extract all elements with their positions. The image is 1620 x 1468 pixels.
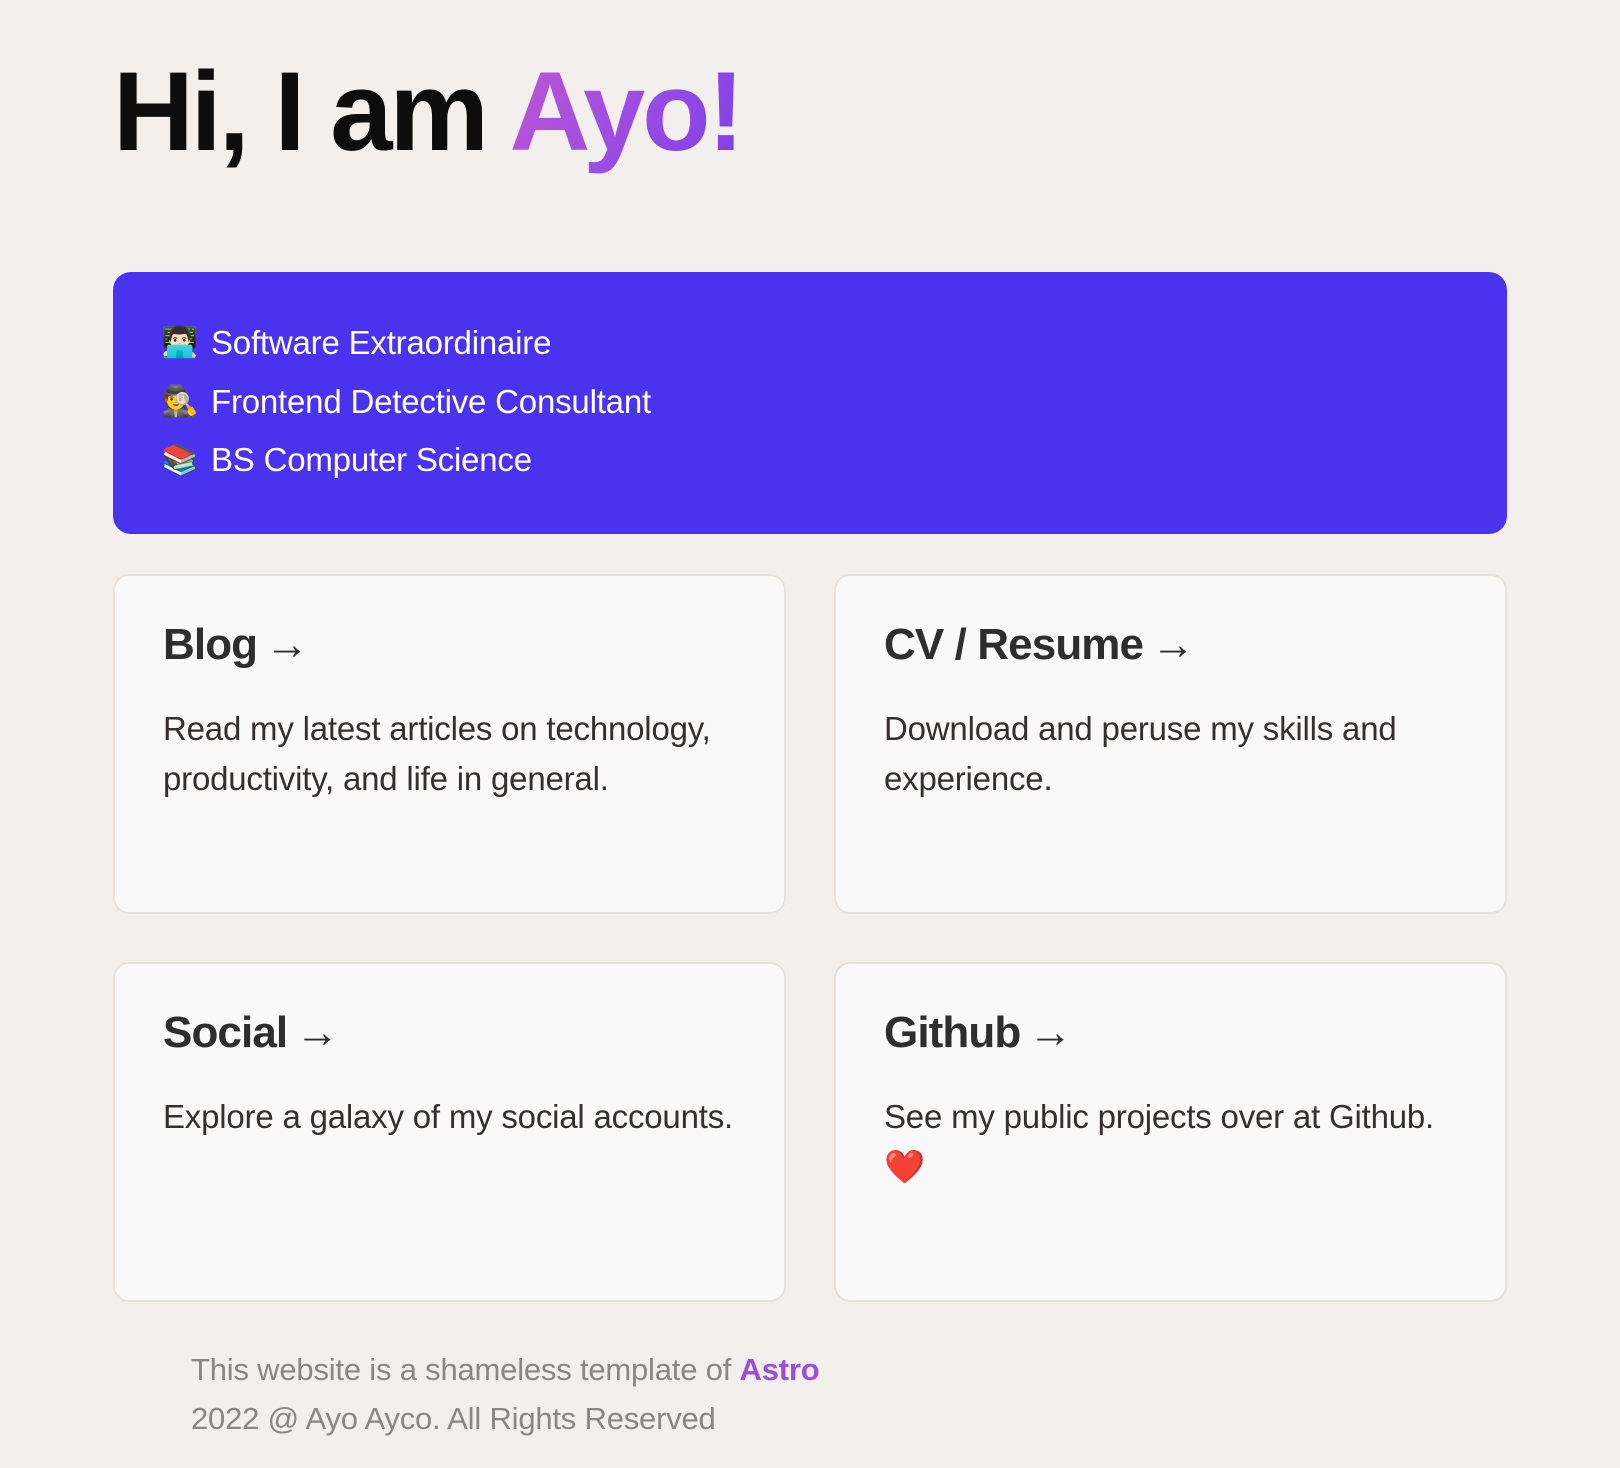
footer-copyright: 2022 @ Ayo Ayco. All Rights Reserved [191,1395,1507,1444]
hero-name-text: Ayo! [510,49,742,174]
card-title: Social→ [163,1008,736,1058]
footer-credit-text: This website is a shameless template of [191,1352,740,1387]
info-item-label: BS Computer Science [211,431,532,490]
hero-section: Hi, I am Ayo! [113,0,1507,272]
card-title: Github→ [884,1008,1457,1058]
card-grid: Blog→ Read my latest articles on technol… [113,574,1507,1302]
card-title: Blog→ [163,620,736,670]
page-footer: This website is a shameless template of … [113,1346,1507,1444]
card-title-text: Github [884,1008,1020,1057]
card-github[interactable]: Github→ See my public projects over at G… [834,962,1507,1302]
card-title-text: Blog [163,620,257,669]
page-title: Hi, I am Ayo! [113,52,1507,173]
arrow-right-icon: → [295,1008,338,1058]
arrow-right-icon: → [1151,620,1194,670]
card-blog[interactable]: Blog→ Read my latest articles on technol… [113,574,786,914]
card-title: CV / Resume→ [884,620,1457,670]
card-description: Read my latest articles on technology, p… [163,704,736,804]
astro-link[interactable]: Astro [740,1352,820,1387]
arrow-right-icon: → [1028,1008,1071,1058]
hero-greeting-text: Hi, I am [113,49,510,174]
detective-emoji: 🕵️ [161,387,211,417]
card-description: Explore a galaxy of my social accounts. [163,1092,736,1142]
card-description: See my public projects over at Github. ❤… [884,1092,1457,1192]
list-item: 🕵️ Frontend Detective Consultant [161,373,1459,432]
info-list: 👨🏻‍💻 Software Extraordinaire 🕵️ Frontend… [161,314,1459,490]
list-item: 📚 BS Computer Science [161,431,1459,490]
info-panel: 👨🏻‍💻 Software Extraordinaire 🕵️ Frontend… [113,272,1507,534]
info-item-label: Software Extraordinaire [211,314,551,373]
card-social[interactable]: Social→ Explore a galaxy of my social ac… [113,962,786,1302]
card-description: Download and peruse my skills and experi… [884,704,1457,804]
info-item-label: Frontend Detective Consultant [211,373,651,432]
card-title-text: Social [163,1008,287,1057]
man-technologist-emoji: 👨🏻‍💻 [161,328,211,358]
books-emoji: 📚 [161,446,211,476]
page-root: Hi, I am Ayo! 👨🏻‍💻 Software Extraordinai… [0,0,1620,1468]
arrow-right-icon: → [265,620,308,670]
footer-credit-line: This website is a shameless template of … [191,1346,1507,1395]
card-cv-resume[interactable]: CV / Resume→ Download and peruse my skil… [834,574,1507,914]
card-title-text: CV / Resume [884,620,1143,669]
list-item: 👨🏻‍💻 Software Extraordinaire [161,314,1459,373]
